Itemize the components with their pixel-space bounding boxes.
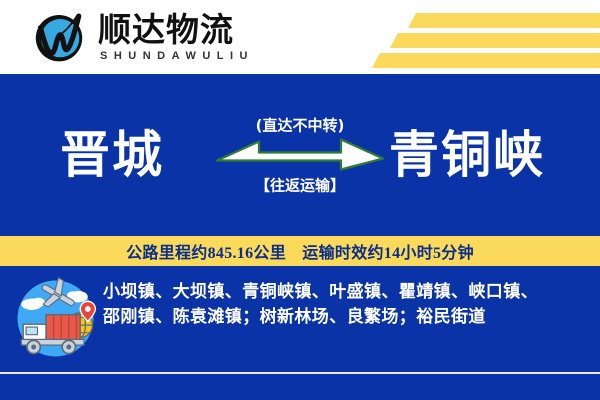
footer-bar xyxy=(0,374,600,400)
route-section: 晋城 (直达不中转) 【往返运输】 青铜峡 xyxy=(0,74,600,236)
stripe-2 xyxy=(390,33,600,48)
brand-logo: 顺达物流 SHUNDAWULIU xyxy=(30,8,254,66)
info-bar: 公路里程约845.16公里 运输时效约14小时5分钟 xyxy=(0,236,600,266)
decorative-stripes xyxy=(330,0,600,74)
double-headed-arrow-icon xyxy=(215,138,385,172)
circle-swoosh-logo-icon xyxy=(30,8,88,66)
coverage-text: 小坝镇、大坝镇、青铜峡镇、叶盛镇、瞿靖镇、峡口镇、 邵刚镇、陈袁滩镇；树新林场、… xyxy=(103,266,600,329)
banner-header: 顺达物流 SHUNDAWULIU xyxy=(0,0,600,74)
brand-text: 顺达物流 SHUNDAWULIU xyxy=(98,12,254,63)
brand-name-en: SHUNDAWULIU xyxy=(98,50,254,62)
coverage-line-2: 邵刚镇、陈袁滩镇；树新林场、良繁场；裕民街道 xyxy=(103,305,586,330)
stripe-3 xyxy=(372,53,600,68)
distance-duration-text: 公路里程约845.16公里 运输时效约14小时5分钟 xyxy=(126,239,474,263)
route-note-bottom: 【往返运输】 xyxy=(210,175,390,196)
coverage-line-1: 小坝镇、大坝镇、青铜峡镇、叶盛镇、瞿靖镇、峡口镇、 xyxy=(103,280,586,305)
stripe-1 xyxy=(408,13,600,28)
logistics-route-banner: 顺达物流 SHUNDAWULIU 晋城 (直达不中转) 【往返运输】 青铜峡 公… xyxy=(0,0,600,400)
truck-globe-airplane-icon xyxy=(8,271,103,366)
coverage-section: 小坝镇、大坝镇、青铜峡镇、叶盛镇、瞿靖镇、峡口镇、 邵刚镇、陈袁滩镇；树新林场、… xyxy=(0,266,600,372)
origin-city: 晋城 xyxy=(60,130,164,180)
brand-name-cn: 顺达物流 xyxy=(98,12,254,48)
destination-city: 青铜峡 xyxy=(389,130,545,180)
route-middle: (直达不中转) 【往返运输】 xyxy=(210,115,390,196)
route-note-top: (直达不中转) xyxy=(210,115,390,136)
